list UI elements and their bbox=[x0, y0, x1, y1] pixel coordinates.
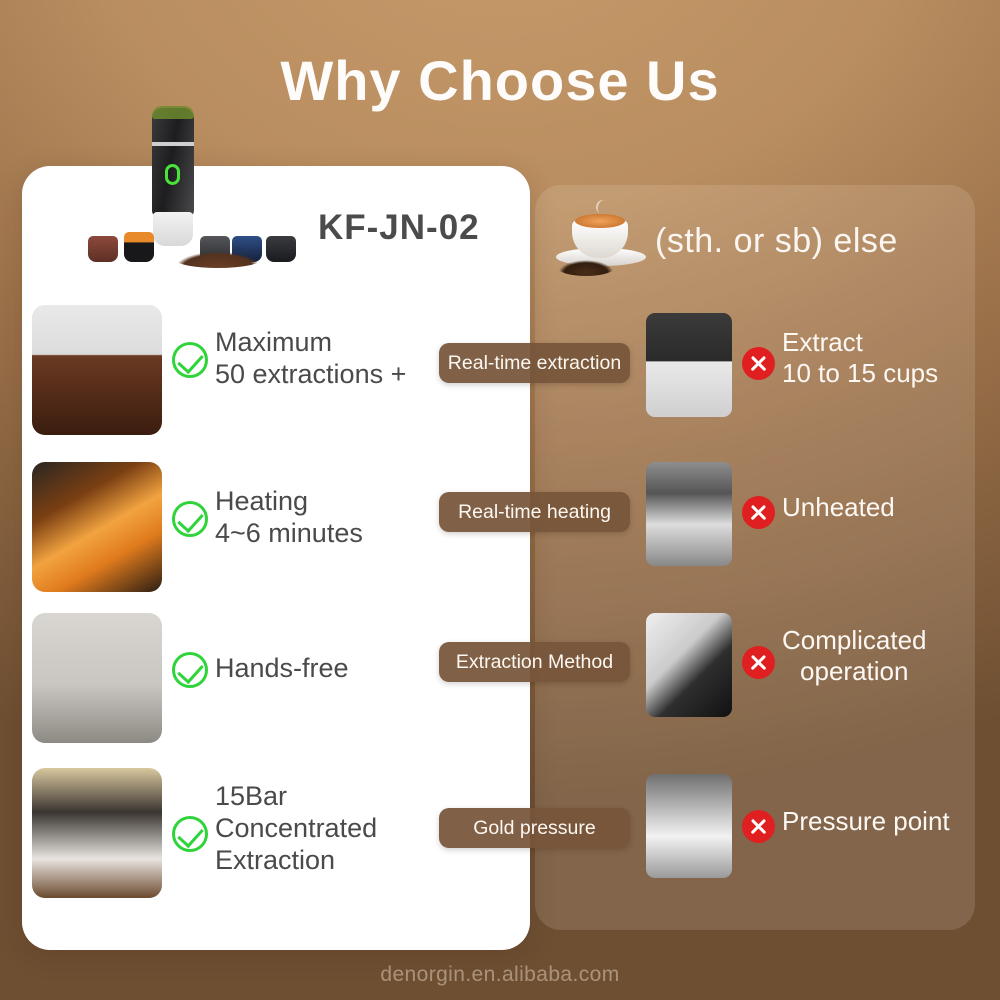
coffee-beans-icon bbox=[558, 260, 614, 276]
capsule-icon bbox=[88, 236, 118, 262]
competitor-thumbnail bbox=[646, 313, 732, 417]
page-title: Why Choose Us bbox=[0, 48, 1000, 113]
competitor-thumbnail bbox=[646, 613, 732, 717]
category-label: Extraction Method bbox=[439, 642, 630, 682]
comparison-row: Hands-free Extraction Method Complicated… bbox=[0, 613, 1000, 753]
machine-body-icon bbox=[152, 108, 194, 216]
category-label: Real-time heating bbox=[439, 492, 630, 532]
capsule-icon bbox=[124, 232, 154, 262]
product-thumbnail bbox=[32, 305, 162, 435]
product-thumbnail bbox=[32, 768, 162, 898]
check-circle-icon bbox=[172, 816, 208, 852]
category-label: Real-time extraction bbox=[439, 343, 630, 383]
comparison-row: Maximum 50 extractions + Real-time extra… bbox=[0, 305, 1000, 445]
cross-circle-icon bbox=[742, 496, 775, 529]
machine-ring-icon bbox=[152, 142, 194, 146]
machine-cap-icon bbox=[152, 106, 194, 119]
product-thumbnail bbox=[32, 462, 162, 592]
product-feature-text: 15Bar Concentrated Extraction bbox=[215, 780, 377, 876]
machine-led-icon bbox=[165, 164, 180, 185]
cross-circle-icon bbox=[742, 810, 775, 843]
product-feature-text: Maximum 50 extractions + bbox=[215, 326, 406, 390]
check-circle-icon bbox=[172, 501, 208, 537]
competitor-thumbnail bbox=[646, 774, 732, 878]
machine-base-icon bbox=[153, 212, 193, 246]
comparison-row: 15Bar Concentrated Extraction Gold press… bbox=[0, 768, 1000, 908]
cross-circle-icon bbox=[742, 646, 775, 679]
product-hero-image bbox=[80, 108, 310, 278]
watermark: denorgin.en.alibaba.com bbox=[0, 963, 1000, 987]
product-thumbnail bbox=[32, 613, 162, 743]
cross-circle-icon bbox=[742, 347, 775, 380]
product-model-name: KF-JN-02 bbox=[318, 208, 480, 248]
competitor-thumbnail bbox=[646, 462, 732, 566]
check-circle-icon bbox=[172, 652, 208, 688]
competitor-title: (sth. or sb) else bbox=[655, 222, 898, 261]
competitor-feature-text: Unheated bbox=[782, 492, 895, 523]
capsule-icon bbox=[266, 236, 296, 262]
comparison-row: Heating 4~6 minutes Real-time heating Un… bbox=[0, 462, 1000, 602]
product-feature-text: Hands-free bbox=[215, 652, 349, 684]
competitor-feature-text: Complicated operation bbox=[782, 625, 927, 687]
category-label: Gold pressure bbox=[439, 808, 630, 848]
competitor-feature-text: Pressure point bbox=[782, 806, 950, 837]
crema-icon bbox=[575, 214, 625, 228]
check-circle-icon bbox=[172, 342, 208, 378]
coffee-grounds-icon bbox=[176, 252, 260, 268]
product-feature-text: Heating 4~6 minutes bbox=[215, 485, 363, 549]
competitor-feature-text: Extract 10 to 15 cups bbox=[782, 327, 938, 389]
coffee-cup-icon bbox=[552, 200, 652, 278]
